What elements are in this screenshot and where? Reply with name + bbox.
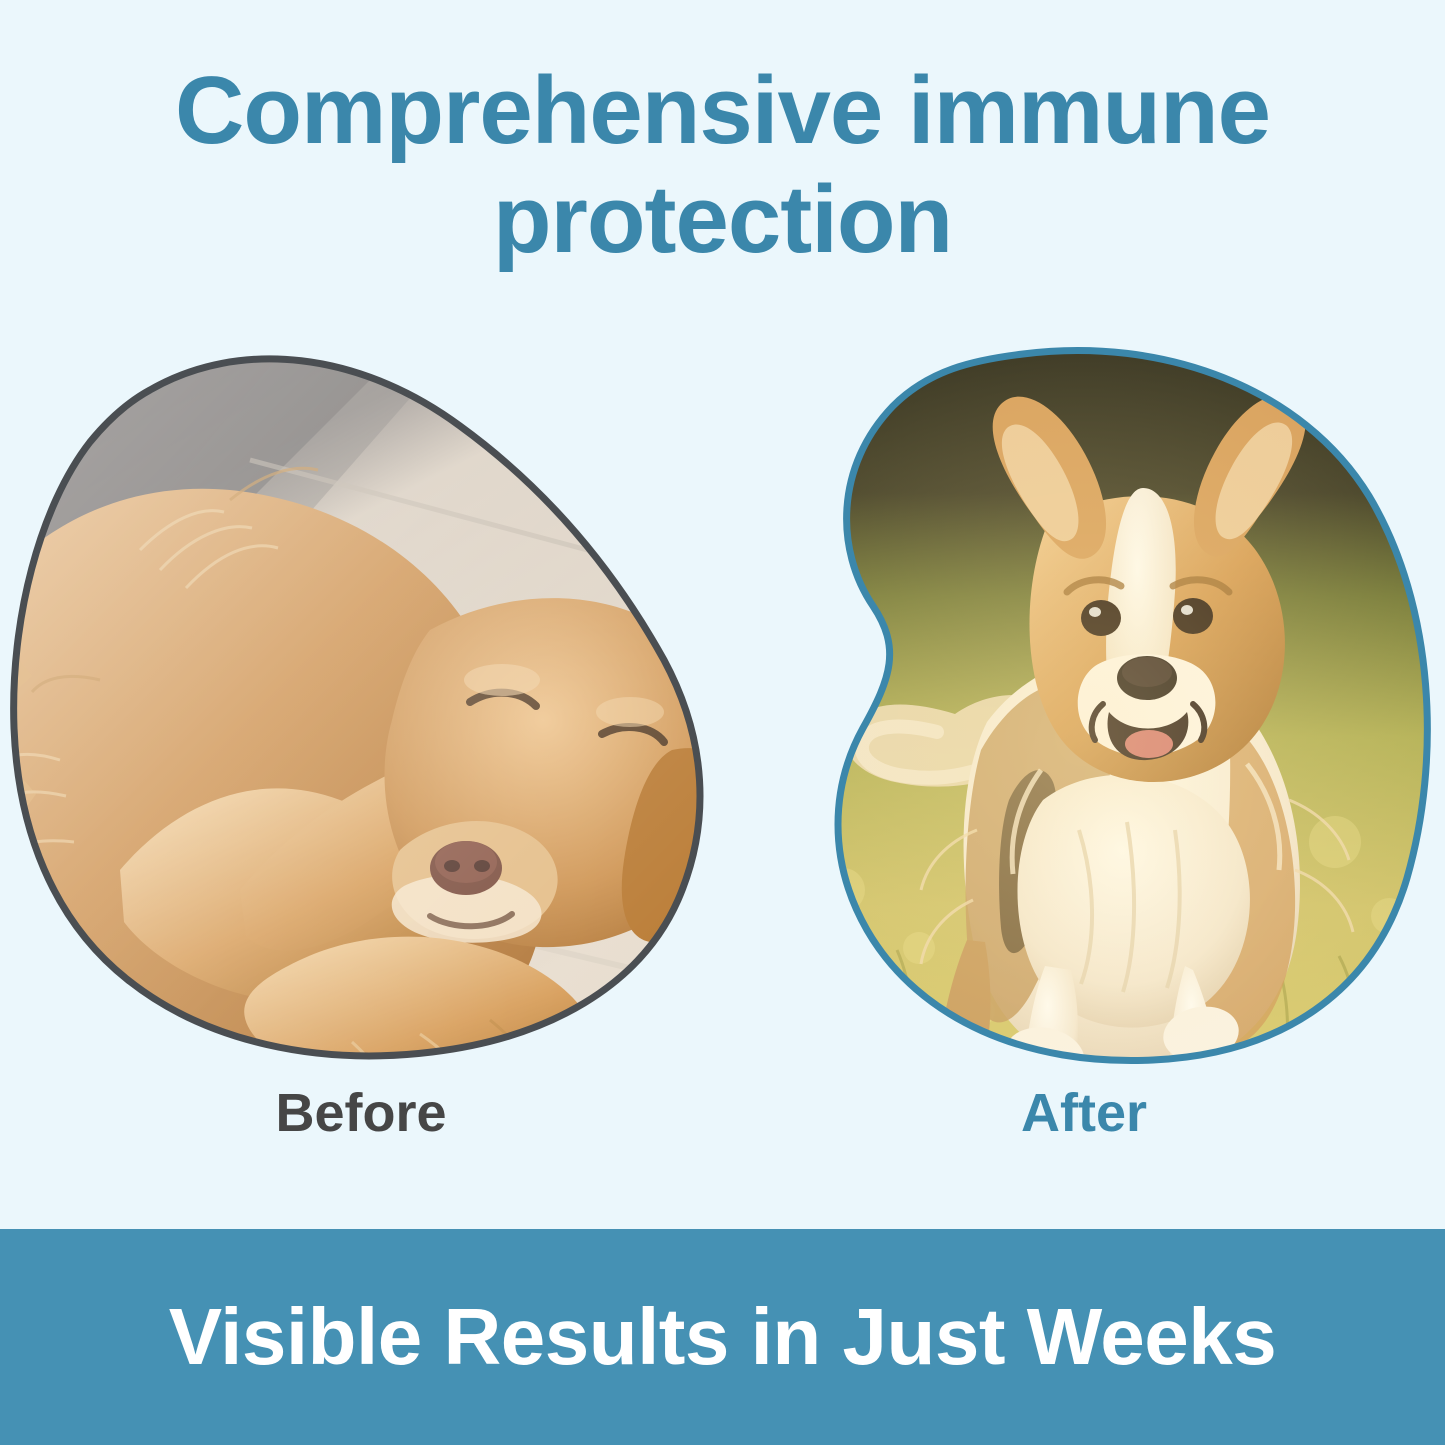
- page-title: Comprehensive immune protection: [0, 56, 1445, 275]
- before-image-blob: [0, 330, 722, 1070]
- bottom-banner: Visible Results in Just Weeks: [0, 1229, 1445, 1445]
- bottom-banner-text: Visible Results in Just Weeks: [169, 1297, 1276, 1377]
- after-dog-illustration: [723, 330, 1445, 1070]
- after-panel: [723, 330, 1445, 1070]
- after-caption: After: [723, 1082, 1445, 1144]
- before-panel: [0, 330, 722, 1070]
- after-image-blob: [723, 330, 1445, 1070]
- before-after-comparison: [0, 330, 1445, 1070]
- before-dog-illustration: [0, 330, 722, 1070]
- before-caption: Before: [0, 1082, 722, 1144]
